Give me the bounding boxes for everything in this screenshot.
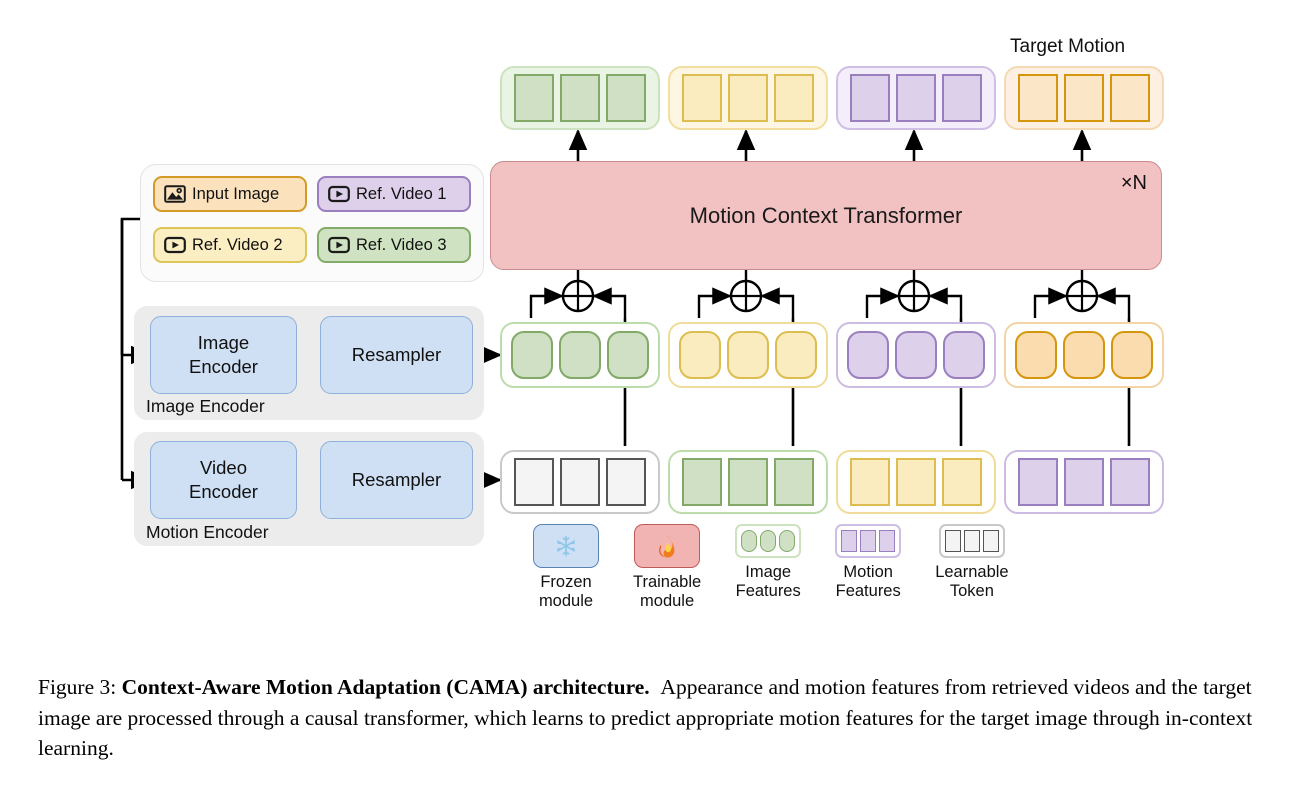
legend: Frozen module Trainable module [533, 524, 1133, 612]
output-token-group-4-target-motion[interactable] [1004, 66, 1164, 130]
legend-token [945, 530, 961, 552]
token [942, 458, 982, 506]
image-encoder-module[interactable]: Image Encoder [150, 316, 297, 394]
image-resampler-module[interactable]: Resampler [320, 316, 473, 394]
token [679, 331, 721, 379]
output-token-group-3[interactable] [836, 66, 996, 130]
motion-resampler-module[interactable]: Resampler [320, 441, 473, 519]
token [1110, 458, 1150, 506]
image-encoder-caption: Image Encoder [146, 396, 265, 417]
token [727, 331, 769, 379]
legend-label-trainable: Trainable module [633, 573, 701, 612]
token [606, 458, 646, 506]
token [1110, 74, 1150, 122]
legend-item-trainable-module: Trainable module [633, 524, 701, 612]
figure-caption: Figure 3: Context-Aware Motion Adaptatio… [38, 672, 1266, 764]
legend-token [760, 530, 776, 552]
motion-feature-group-3[interactable] [836, 450, 996, 514]
repeat-count-label: ×N [1121, 172, 1147, 195]
legend-label-motion-features: Motion Features [836, 563, 901, 602]
frozen-module-swatch [533, 524, 599, 568]
image-feature-group-4[interactable] [1004, 322, 1164, 388]
chip-label: Input Image [192, 185, 279, 204]
token [682, 74, 722, 122]
learnable-token-swatch [939, 524, 1005, 558]
token [1018, 74, 1058, 122]
legend-label-image-features: Image Features [736, 563, 801, 602]
token [774, 74, 814, 122]
legend-token [741, 530, 757, 552]
legend-token [983, 530, 999, 552]
token [559, 331, 601, 379]
input-panel[interactable]: Input Image Ref. Video 1 Ref. Video 2 Re… [140, 164, 484, 282]
legend-item-motion-features: Motion Features [835, 524, 901, 602]
video-icon [328, 185, 350, 203]
image-encoder-line2: Encoder [189, 355, 258, 379]
chip-input-image[interactable]: Input Image [153, 176, 307, 212]
video-encoder-module[interactable]: Video Encoder [150, 441, 297, 519]
token [775, 331, 817, 379]
token [1111, 331, 1153, 379]
token [850, 74, 890, 122]
token [607, 331, 649, 379]
motion-encoder-caption: Motion Encoder [146, 522, 269, 543]
chip-label: Ref. Video 1 [356, 185, 447, 204]
token [895, 331, 937, 379]
token [511, 331, 553, 379]
token [1063, 331, 1105, 379]
trainable-module-swatch [634, 524, 700, 568]
token [1064, 458, 1104, 506]
token [847, 331, 889, 379]
legend-label-frozen: Frozen module [539, 573, 593, 612]
image-icon [164, 185, 186, 203]
video-encoder-line1: Video [200, 456, 247, 480]
token [728, 458, 768, 506]
chip-label: Ref. Video 3 [356, 236, 447, 255]
motion-feature-group-4[interactable] [1004, 450, 1164, 514]
motion-feature-group-2[interactable] [668, 450, 828, 514]
motion-resampler-label: Resampler [352, 468, 441, 492]
token [1064, 74, 1104, 122]
token [1015, 331, 1057, 379]
token [514, 458, 554, 506]
motion-context-transformer[interactable]: Motion Context Transformer ×N [490, 161, 1162, 270]
video-encoder-line2: Encoder [189, 480, 258, 504]
legend-item-learnable-token: Learnable Token [935, 524, 1008, 602]
snowflake-icon [554, 534, 578, 558]
legend-token [860, 530, 876, 552]
image-feature-group-3[interactable] [836, 322, 996, 388]
legend-label-learnable-token: Learnable Token [935, 563, 1008, 602]
token [606, 74, 646, 122]
token [560, 458, 600, 506]
token [728, 74, 768, 122]
image-feature-group-1[interactable] [500, 322, 660, 388]
token [682, 458, 722, 506]
legend-token [841, 530, 857, 552]
legend-item-frozen-module: Frozen module [533, 524, 599, 612]
token [850, 458, 890, 506]
image-features-swatch [735, 524, 801, 558]
token [896, 458, 936, 506]
image-resampler-label: Resampler [352, 343, 441, 367]
transformer-title: Motion Context Transformer [690, 203, 963, 229]
figure-title: Context-Aware Motion Adaptation (CAMA) a… [122, 675, 650, 699]
legend-token [779, 530, 795, 552]
motion-features-swatch [835, 524, 901, 558]
token [774, 458, 814, 506]
legend-token [964, 530, 980, 552]
chip-label: Ref. Video 2 [192, 236, 283, 255]
token [514, 74, 554, 122]
figure-number: Figure 3: [38, 675, 116, 699]
video-icon [328, 236, 350, 254]
output-token-group-1[interactable] [500, 66, 660, 130]
legend-token [879, 530, 895, 552]
chip-ref-video-3[interactable]: Ref. Video 3 [317, 227, 471, 263]
token [943, 331, 985, 379]
chip-ref-video-1[interactable]: Ref. Video 1 [317, 176, 471, 212]
legend-item-image-features: Image Features [735, 524, 801, 602]
token [1018, 458, 1058, 506]
image-encoder-line1: Image [198, 331, 249, 355]
flame-icon [655, 533, 679, 559]
token [560, 74, 600, 122]
video-icon [164, 236, 186, 254]
token [942, 74, 982, 122]
chip-ref-video-2[interactable]: Ref. Video 2 [153, 227, 307, 263]
figure-3-cama-architecture: Target Motion Motion Context Transformer… [0, 0, 1298, 811]
target-motion-label: Target Motion [1010, 36, 1125, 58]
output-token-group-2[interactable] [668, 66, 828, 130]
motion-feature-group-1[interactable] [500, 450, 660, 514]
image-feature-group-2[interactable] [668, 322, 828, 388]
token [896, 74, 936, 122]
